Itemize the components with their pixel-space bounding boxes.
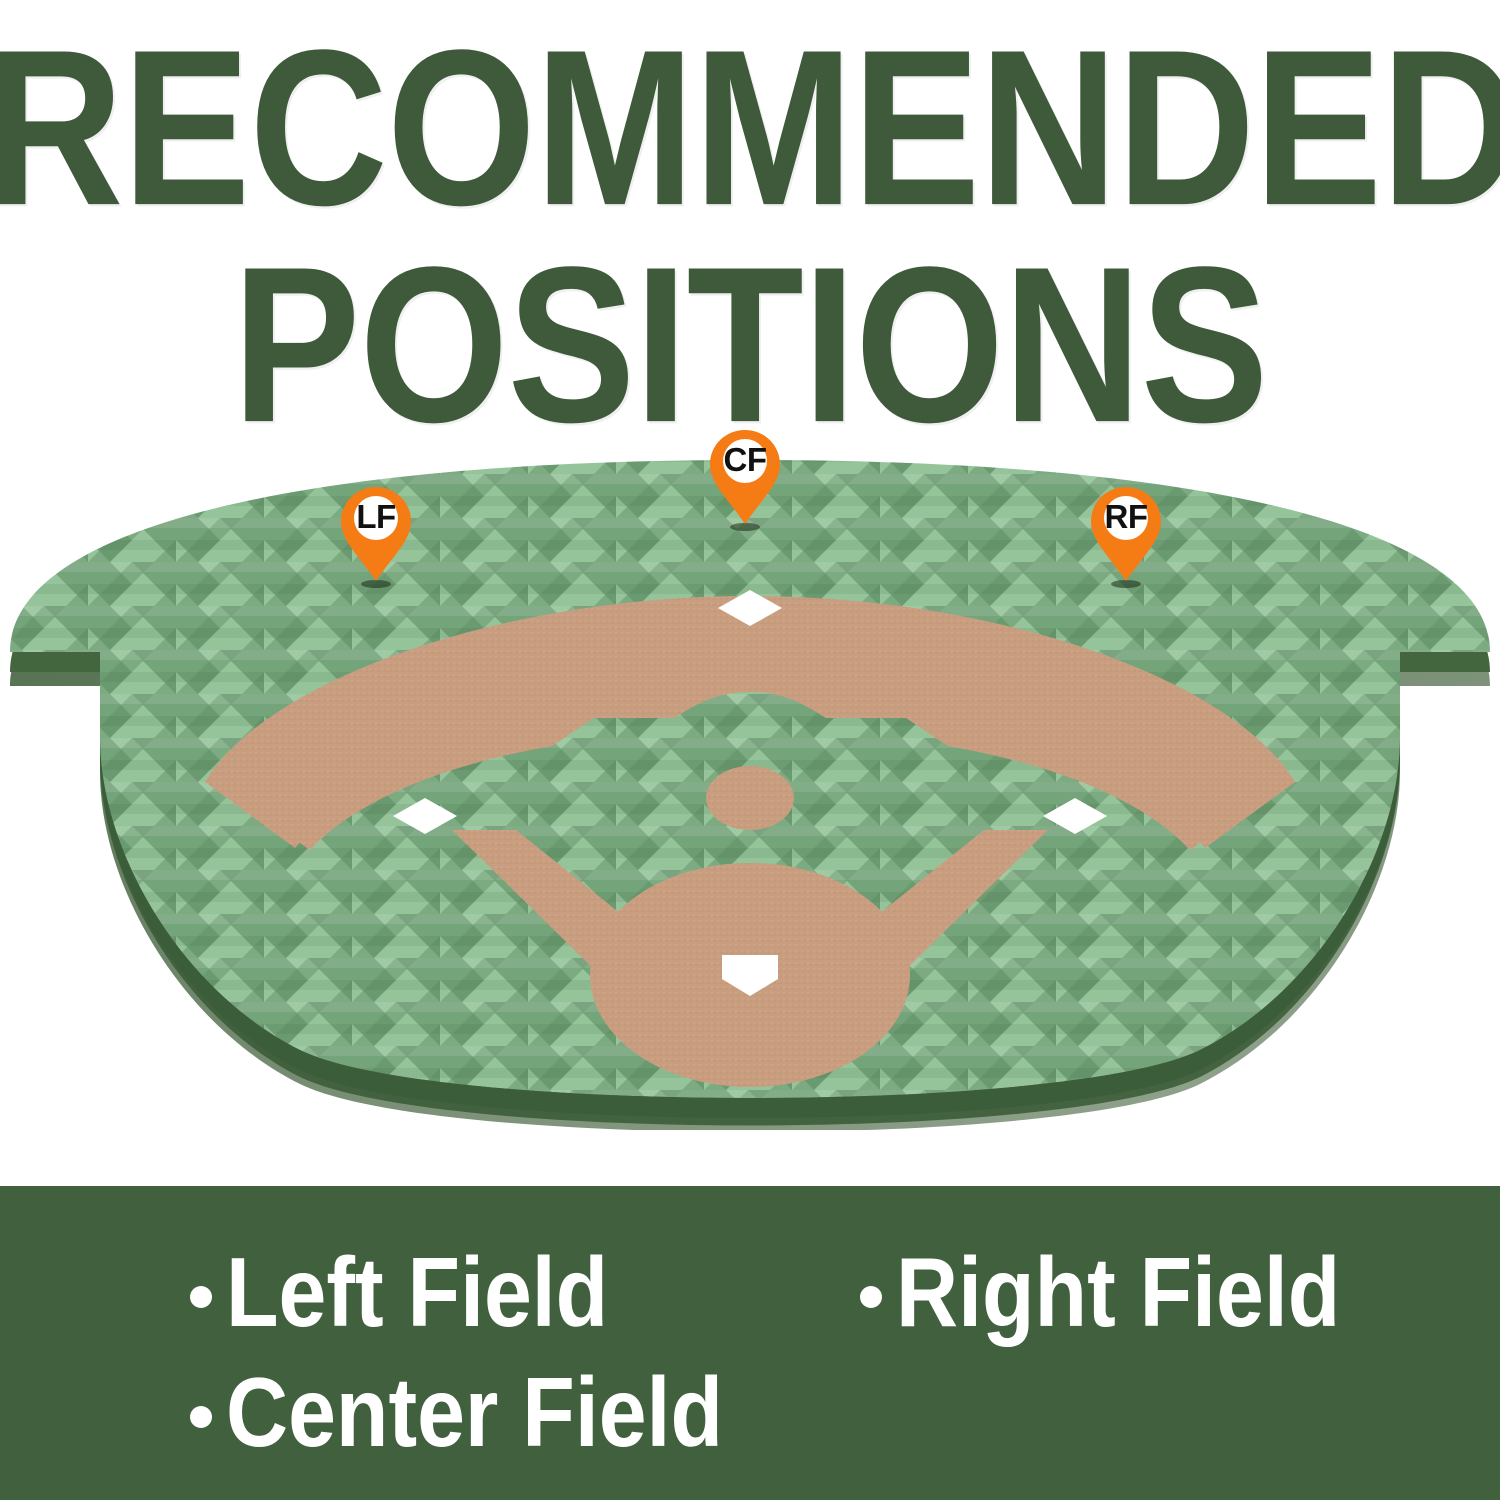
map-pin-left-field[interactable]: LF	[338, 485, 414, 589]
list-item-left-field: Left Field	[190, 1244, 608, 1343]
poster-canvas: RECOMMENDED POSITIONS	[0, 0, 1500, 1500]
pitchers-mound	[706, 766, 794, 830]
bullet-dot-icon	[860, 1286, 882, 1308]
title-line-2: POSITIONS	[0, 243, 1500, 447]
bullet-dot-icon	[190, 1286, 212, 1308]
list-item-center-field: Center Field	[190, 1364, 723, 1463]
list-item-label: Right Field	[896, 1237, 1340, 1350]
map-pin-icon	[1088, 485, 1164, 589]
baseball-field-diagram	[0, 430, 1500, 1130]
map-pin-center-field[interactable]: CF	[707, 428, 783, 532]
title-line-1: RECOMMENDED	[0, 26, 1500, 230]
map-pin-right-field[interactable]: RF	[1088, 485, 1164, 589]
map-pin-icon	[707, 428, 783, 532]
list-item-label: Left Field	[226, 1237, 608, 1350]
page-title: RECOMMENDED POSITIONS	[0, 26, 1500, 416]
bullet-dot-icon	[190, 1406, 212, 1428]
field-illustration	[0, 430, 1500, 1130]
list-item-label: Center Field	[226, 1357, 723, 1470]
map-pin-icon	[338, 485, 414, 589]
positions-legend-banner: Left Field Center Field Right Field	[0, 1186, 1500, 1500]
list-item-right-field: Right Field	[860, 1244, 1340, 1343]
